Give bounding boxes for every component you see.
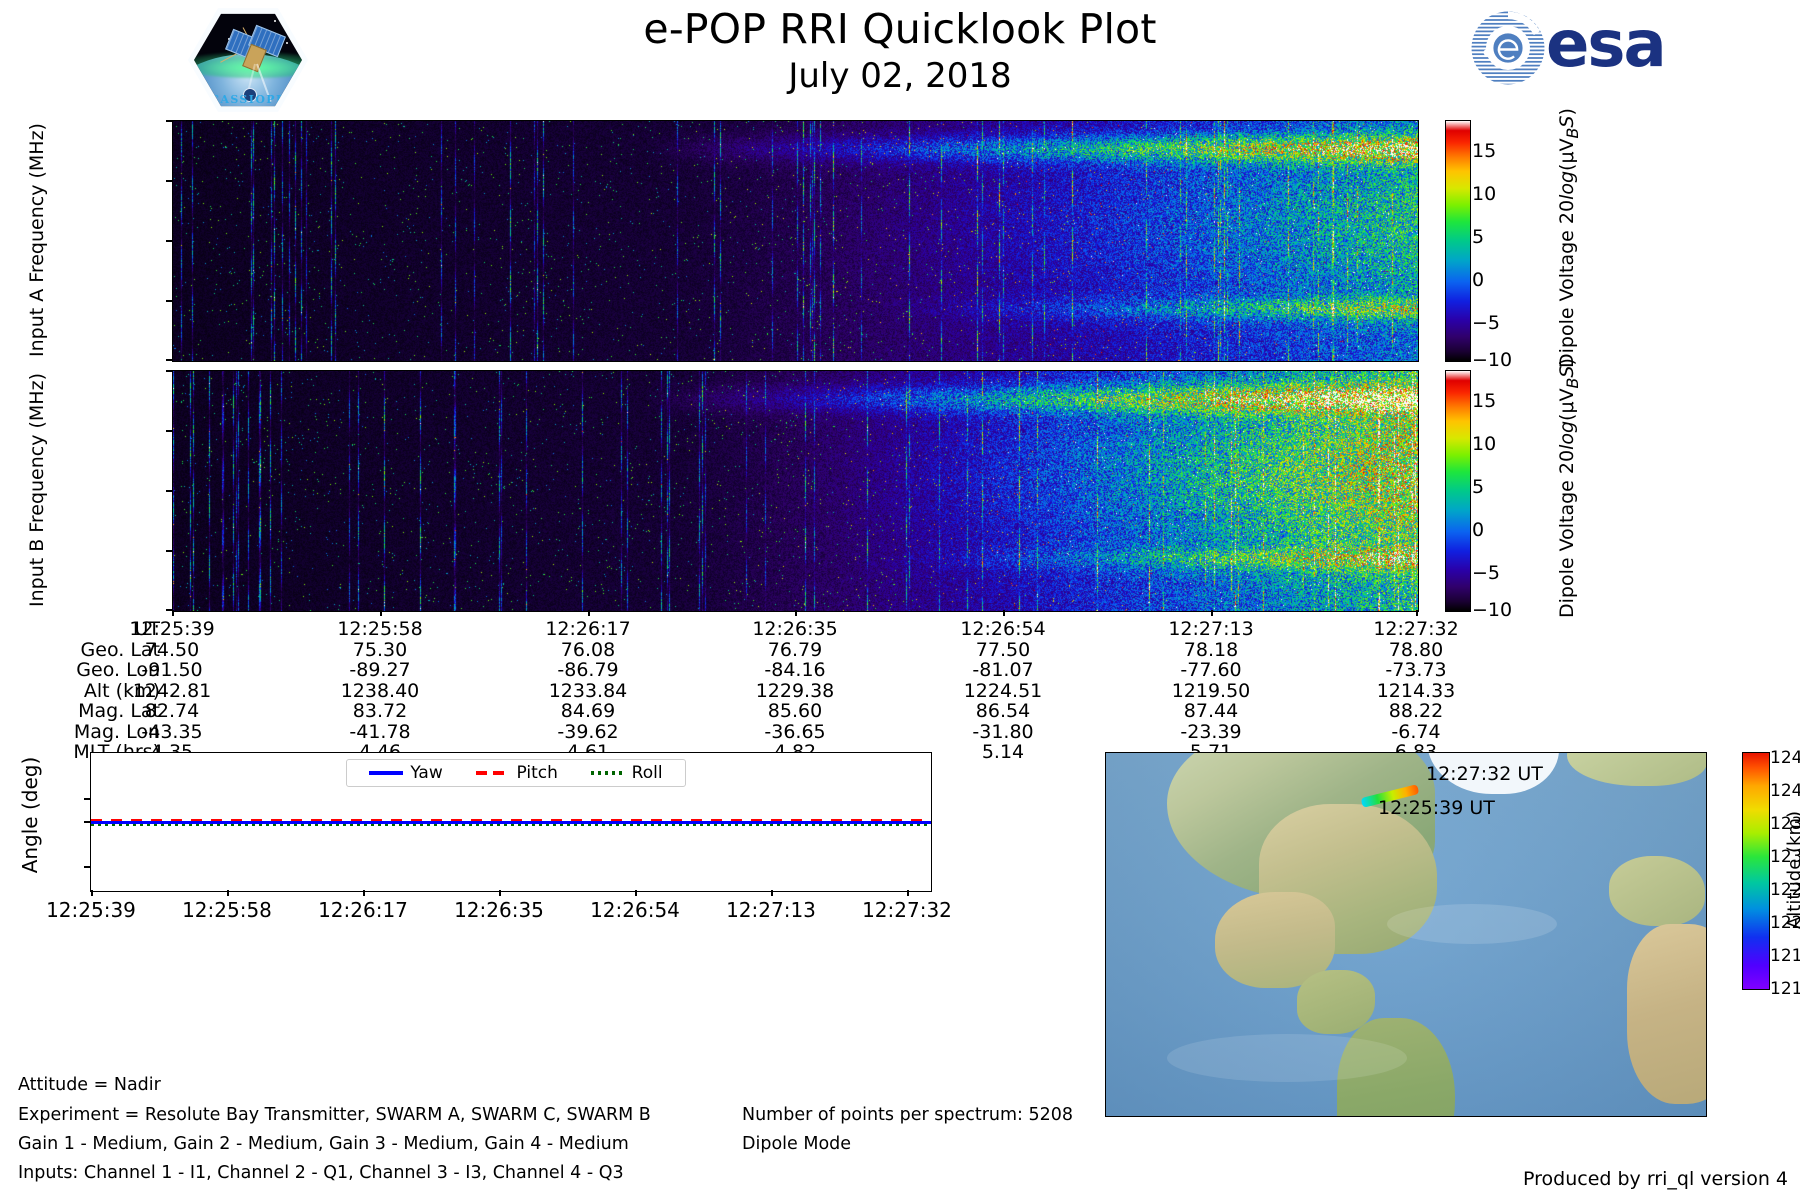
cell-alt-6: 1214.33 (1316, 680, 1516, 702)
cell-geolat-6: 78.80 (1316, 639, 1516, 661)
cassiope-logo-icon: CASSIOPE (188, 6, 308, 114)
attitude-xtick-1: 12:25:58 (157, 898, 297, 922)
cell-geolat-5: 78.18 (1111, 639, 1311, 661)
spec-a-cbtick-0: 15 (1472, 140, 1496, 162)
cell-maglon-2: -39.62 (488, 721, 688, 743)
cell-ut-4: 12:26:54 (903, 618, 1103, 640)
cell-geolon-4: -81.07 (903, 659, 1103, 681)
cell-ut-2: 12:26:17 (488, 618, 688, 640)
cell-maglat-0: 82.74 (72, 700, 272, 722)
footer-attitude: Attitude = Nadir (18, 1075, 161, 1095)
table-row: Geo. Lat 74.50 75.30 76.08 76.79 77.50 7… (0, 639, 1800, 660)
cell-alt-2: 1233.84 (488, 680, 688, 702)
spec-b-cbtick-4: −5 (1472, 562, 1500, 584)
cell-geolon-1: -89.27 (280, 659, 480, 681)
cell-ut-6: 12:27:32 (1316, 618, 1516, 640)
attitude-xtick-4: 12:26:54 (565, 898, 705, 922)
cell-maglat-2: 84.69 (488, 700, 688, 722)
esa-wordmark: esa (1546, 12, 1665, 78)
attitude-plot[interactable]: Yaw Pitch Roll (90, 752, 932, 892)
cell-maglon-3: -36.65 (695, 721, 895, 743)
altitude-colorbar-label: Altitude (km) (1784, 745, 1800, 995)
cell-geolat-0: 74.50 (72, 639, 272, 661)
cell-ut-5: 12:27:13 (1111, 618, 1311, 640)
footer-experiment: Experiment = Resolute Bay Transmitter, S… (18, 1105, 651, 1125)
spec-b-cbtick-2: 5 (1472, 476, 1484, 498)
cell-alt-3: 1229.38 (695, 680, 895, 702)
cell-geolon-2: -86.79 (488, 659, 688, 681)
attitude-roll-line (91, 824, 931, 826)
attitude-xtick-2: 12:26:17 (293, 898, 433, 922)
input-b-spectrogram[interactable] (172, 370, 1419, 612)
legend-swatch-yaw (369, 771, 403, 775)
spec-b-cbtick-0: 15 (1472, 390, 1496, 412)
table-row: Geo. Lon -91.50 -89.27 -86.79 -84.16 -81… (0, 659, 1800, 680)
cell-geolon-0: -91.50 (72, 659, 272, 681)
input-a-spectrogram[interactable] (172, 120, 1419, 362)
ground-track-map[interactable]: 12:27:32 UT 12:25:39 UT (1105, 752, 1707, 1117)
esa-logo: esa (1470, 8, 1700, 88)
cell-alt-1: 1238.40 (280, 680, 480, 702)
cell-alt-0: 1242.81 (72, 680, 272, 702)
spec-a-cbtick-3: 0 (1472, 269, 1484, 291)
altitude-colorbar (1742, 752, 1770, 990)
cell-geolon-3: -84.16 (695, 659, 895, 681)
cell-maglon-1: -41.78 (280, 721, 480, 743)
cell-maglon-5: -23.39 (1111, 721, 1311, 743)
cell-maglon-0: -43.35 (72, 721, 272, 743)
spec-b-ylabel: Input B Frequency (MHz) (26, 370, 48, 610)
legend-item-roll[interactable]: Roll (591, 763, 663, 783)
cell-geolat-4: 77.50 (903, 639, 1103, 661)
spec-a-ylabel: Input A Frequency (MHz) (26, 120, 48, 360)
spec-a-cbtick-5: −10 (1472, 349, 1512, 371)
map-end-time-label: 12:27:32 UT (1426, 763, 1543, 785)
ephemeris-table: UT 12:25:39 12:25:58 12:26:17 12:26:35 1… (0, 618, 1800, 762)
attitude-xtick-0: 12:25:39 (21, 898, 161, 922)
spec-a-cbtick-4: −5 (1472, 312, 1500, 334)
esa-emblem-icon (1470, 10, 1546, 86)
table-row: Alt (km) 1242.81 1238.40 1233.84 1229.38… (0, 680, 1800, 701)
cell-maglon-6: -6.74 (1316, 721, 1516, 743)
legend-label-pitch: Pitch (517, 763, 558, 783)
cell-maglat-3: 85.60 (695, 700, 895, 722)
footer-gain: Gain 1 - Medium, Gain 2 - Medium, Gain 3… (18, 1134, 629, 1154)
attitude-legend[interactable]: Yaw Pitch Roll (346, 759, 686, 787)
footer-inputs: Inputs: Channel 1 - I1, Channel 2 - Q1, … (18, 1163, 624, 1183)
table-row: Mag. Lon -43.35 -41.78 -39.62 -36.65 -31… (0, 721, 1800, 742)
cell-geolon-6: -73.73 (1316, 659, 1516, 681)
cell-maglat-4: 86.54 (903, 700, 1103, 722)
attitude-xtick-6: 12:27:32 (837, 898, 977, 922)
spec-a-canvas (173, 121, 1418, 361)
spec-a-cbtick-1: 10 (1472, 183, 1496, 205)
cell-mlt-4: 5.14 (903, 741, 1103, 763)
spec-b-canvas (173, 371, 1418, 611)
footer-points: Number of points per spectrum: 5208 (742, 1105, 1073, 1125)
legend-item-yaw[interactable]: Yaw (369, 763, 442, 783)
footer-mode: Dipole Mode (742, 1134, 851, 1154)
cell-maglat-1: 83.72 (280, 700, 480, 722)
legend-item-pitch[interactable]: Pitch (476, 763, 558, 783)
cell-maglat-6: 88.22 (1316, 700, 1516, 722)
cell-alt-5: 1219.50 (1111, 680, 1311, 702)
spec-a-cbtick-2: 5 (1472, 226, 1484, 248)
map-start-time-label: 12:25:39 UT (1378, 797, 1495, 819)
spec-a-colorbar: 15 10 5 0 −5 −10 (1445, 120, 1471, 362)
cell-maglon-4: -31.80 (903, 721, 1103, 743)
cell-ut-1: 12:25:58 (280, 618, 480, 640)
spec-b-colorbar-label: Dipole Voltage 20log(μVBS) (1556, 378, 1582, 618)
attitude-xtick-5: 12:27:13 (701, 898, 841, 922)
table-row: UT 12:25:39 12:25:58 12:26:17 12:26:35 1… (0, 618, 1800, 639)
cell-ut-0: 12:25:39 (72, 618, 272, 640)
cell-maglat-5: 87.44 (1111, 700, 1311, 722)
cell-geolon-5: -77.60 (1111, 659, 1311, 681)
table-row: Mag. Lat 82.74 83.72 84.69 85.60 86.54 8… (0, 700, 1800, 721)
attitude-yaw-line (91, 821, 931, 824)
attitude-ylabel: Angle (deg) (18, 740, 42, 890)
spec-b-cbtick-3: 0 (1472, 519, 1484, 541)
spec-b-colorbar: 15 10 5 0 −5 −10 (1445, 370, 1471, 612)
spec-b-cbtick-1: 10 (1472, 433, 1496, 455)
cell-geolat-2: 76.08 (488, 639, 688, 661)
cell-geolat-1: 75.30 (280, 639, 480, 661)
legend-swatch-pitch (476, 771, 510, 775)
cell-geolat-3: 76.79 (695, 639, 895, 661)
legend-swatch-roll (591, 771, 625, 775)
legend-label-yaw: Yaw (410, 763, 442, 783)
cell-ut-3: 12:26:35 (695, 618, 895, 640)
legend-label-roll: Roll (632, 763, 663, 783)
spec-a-colorbar-label: Dipole Voltage 20log(μVBS) (1556, 128, 1582, 368)
attitude-xtick-3: 12:26:35 (429, 898, 569, 922)
cell-alt-4: 1224.51 (903, 680, 1103, 702)
footer-produced-by: Produced by rri_ql version 4 (1523, 1168, 1788, 1190)
